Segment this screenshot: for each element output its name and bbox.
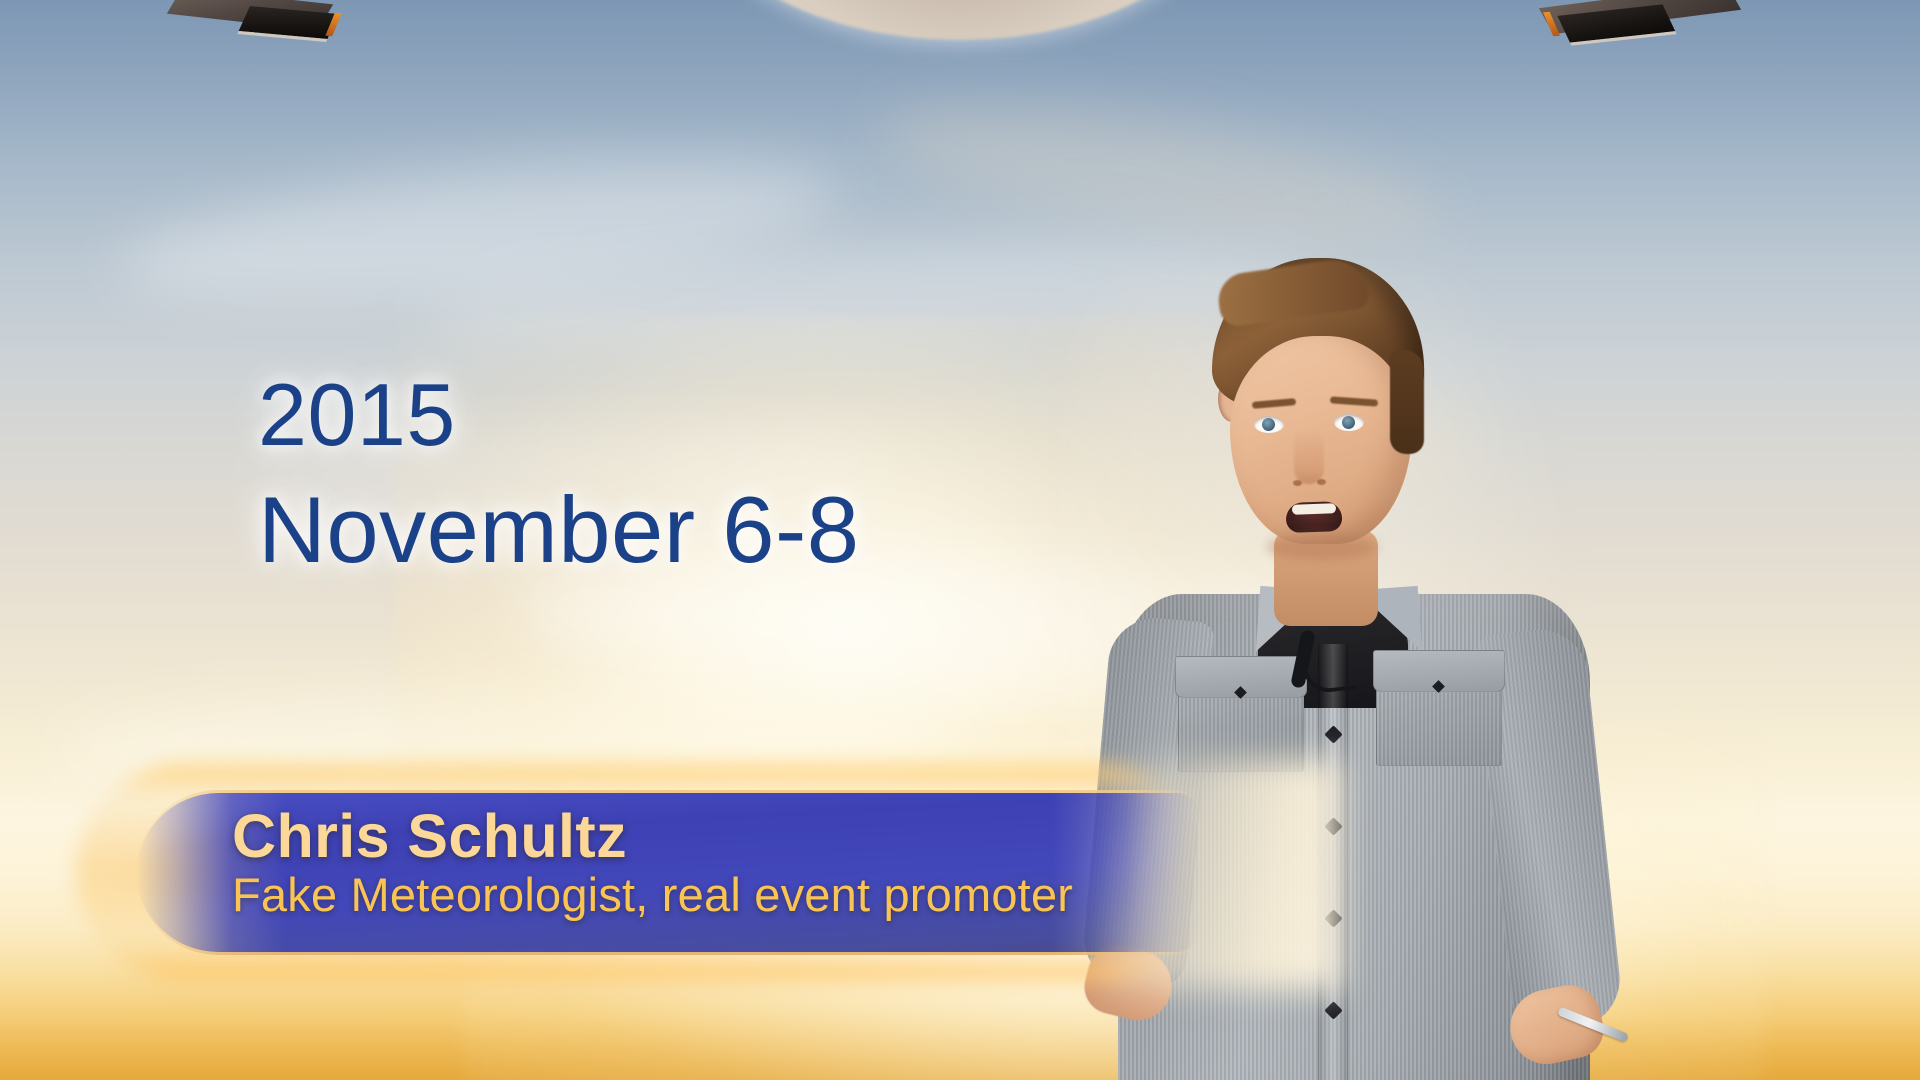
lower-third-banner: Chris Schultz Fake Meteorologist, real e… [136, 790, 1200, 955]
nose [1294, 430, 1324, 484]
headline-block: 2015 November 6-8 [258, 370, 860, 578]
presenter [1090, 258, 1650, 1080]
nostril-right [1317, 479, 1326, 485]
headline-dates: November 6-8 [258, 482, 860, 578]
chin-shadow [1266, 534, 1378, 560]
nostril-left [1293, 480, 1302, 486]
banner-text: Chris Schultz Fake Meteorologist, real e… [232, 806, 1160, 921]
video-frame: 2015 November 6-8 [0, 0, 1920, 1080]
headline-year: 2015 [258, 370, 860, 460]
iris-left [1262, 418, 1275, 431]
teeth [1292, 503, 1336, 515]
sideburn [1390, 350, 1424, 454]
presenter-role: Fake Meteorologist, real event promoter [232, 869, 1160, 921]
iris-right [1342, 416, 1355, 429]
presenter-name: Chris Schultz [232, 806, 1160, 867]
